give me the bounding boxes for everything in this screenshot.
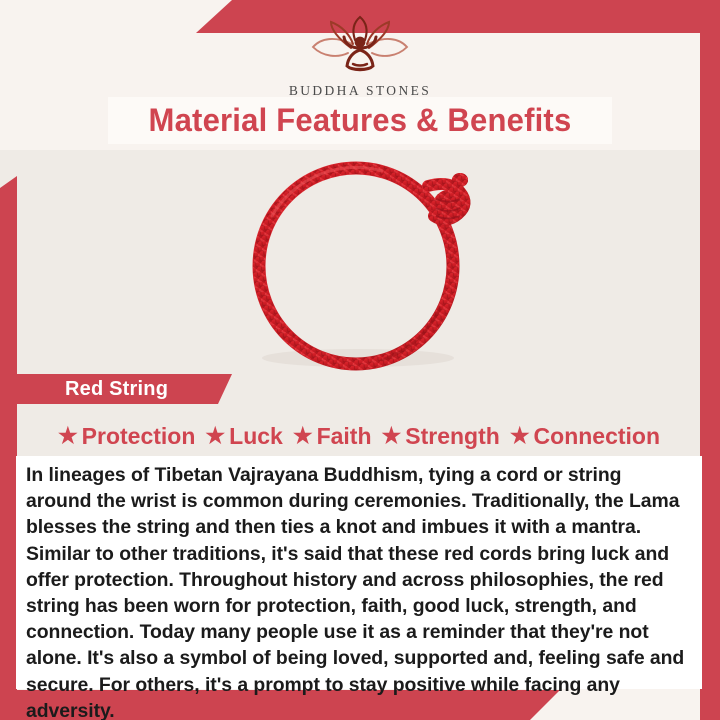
product-label-banner: Red String — [10, 374, 232, 404]
decorative-bar-right — [700, 0, 720, 720]
decorative-bar-left — [0, 176, 17, 720]
benefit-label: Luck — [229, 423, 283, 450]
description-block: In lineages of Tibetan Vajrayana Buddhis… — [16, 456, 702, 689]
product-label: Red String — [65, 378, 168, 401]
benefit-label: Strength — [405, 423, 500, 450]
benefit-label: Connection — [534, 423, 661, 450]
page-title: Material Features & Benefits — [149, 102, 572, 139]
benefit-label: Faith — [317, 423, 372, 450]
star-icon: ★ — [510, 425, 530, 447]
benefit-item: ★ Strength — [378, 423, 504, 450]
red-string-bracelet-image — [232, 158, 494, 380]
benefit-item: ★ Faith — [289, 423, 376, 450]
benefit-label: Protection — [82, 423, 196, 450]
description-text: In lineages of Tibetan Vajrayana Buddhis… — [26, 462, 690, 720]
lotus-meditation-figure-icon — [295, 14, 425, 80]
star-icon: ★ — [205, 425, 225, 447]
title-banner: Material Features & Benefits — [108, 97, 612, 144]
star-icon: ★ — [58, 425, 78, 447]
benefit-item: ★ Protection — [54, 423, 199, 450]
benefit-item: ★ Luck — [201, 423, 286, 450]
benefit-item: ★ Connection — [506, 423, 664, 450]
star-icon: ★ — [293, 425, 313, 447]
benefits-list: ★ Protection ★ Luck ★ Faith ★ Strength ★… — [17, 420, 701, 452]
brand-logo: BUDDHA STONES — [0, 14, 720, 99]
infographic-page: BUDDHA STONES Material Features & Benefi… — [0, 0, 720, 720]
star-icon: ★ — [382, 425, 402, 447]
